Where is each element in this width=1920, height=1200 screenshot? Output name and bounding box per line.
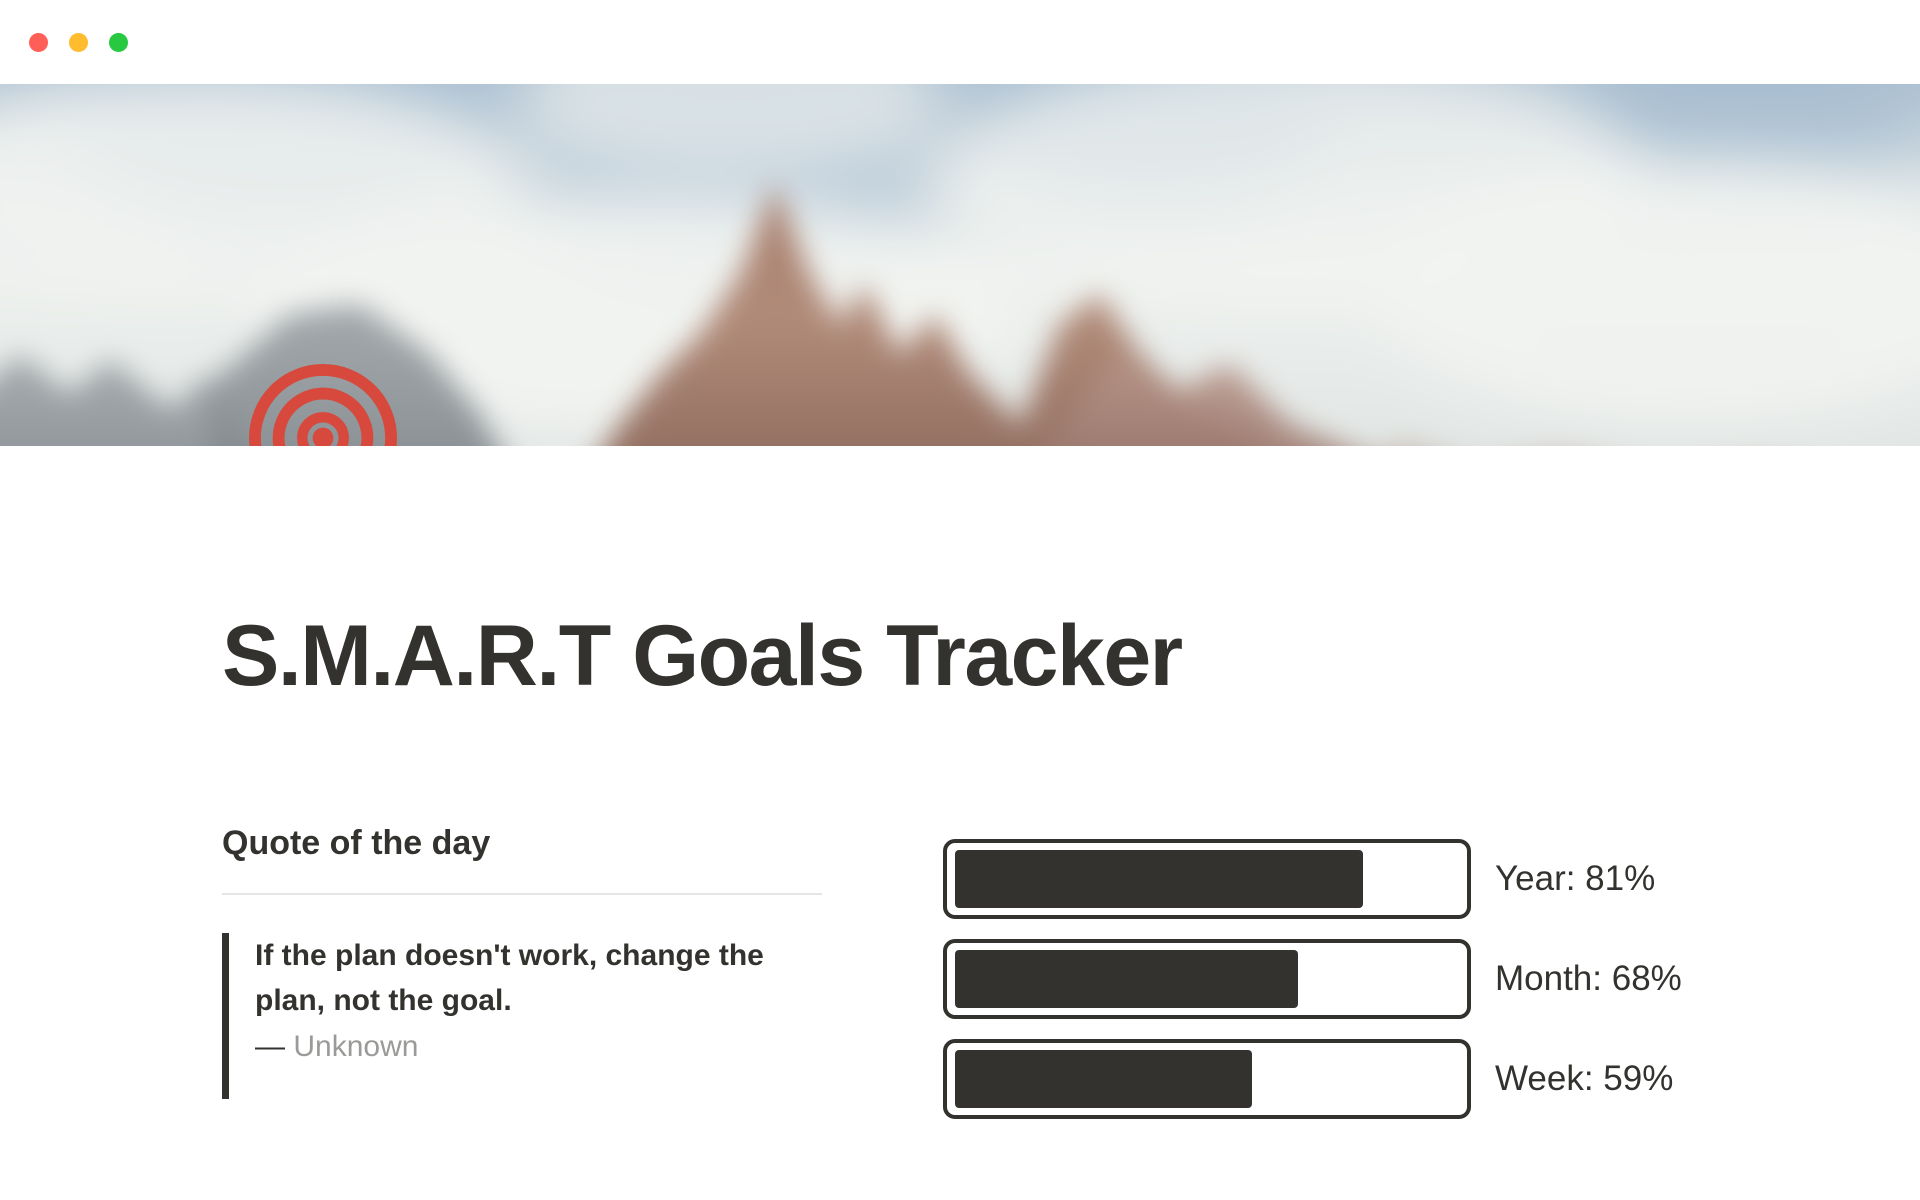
- page-content: S.M.A.R.T Goals Tracker Quote of the day…: [0, 446, 1920, 1200]
- progress-label-month: Month: 68%: [1495, 959, 1682, 999]
- quote-attribution: — Unknown: [255, 1030, 822, 1064]
- minimize-button[interactable]: [69, 33, 88, 52]
- quote-section-heading: Quote of the day: [222, 823, 822, 864]
- quote-dash: —: [255, 1030, 285, 1063]
- progress-row-week: Week: 59%: [943, 1039, 1682, 1119]
- window-titlebar: [0, 0, 1920, 84]
- quote-text: If the plan doesn't work, change the pla…: [255, 933, 775, 1024]
- page-title: S.M.A.R.T Goals Tracker: [222, 613, 1182, 699]
- progress-fill-year: [955, 850, 1363, 908]
- progress-track-month[interactable]: [943, 939, 1471, 1019]
- close-button[interactable]: [29, 33, 48, 52]
- traffic-light-controls: [29, 33, 128, 52]
- progress-track-week[interactable]: [943, 1039, 1471, 1119]
- quote-accent-bar: [222, 933, 229, 1099]
- app-window: S.M.A.R.T Goals Tracker Quote of the day…: [0, 0, 1920, 1200]
- progress-label-week: Week: 59%: [1495, 1059, 1673, 1099]
- maximize-button[interactable]: [109, 33, 128, 52]
- progress-bars-group: Year: 81% Month: 68% Week: 59%: [943, 839, 1682, 1139]
- progress-fill-month: [955, 950, 1298, 1008]
- quote-of-the-day-section: Quote of the day If the plan doesn't wor…: [222, 823, 822, 1064]
- quote-blockquote: If the plan doesn't work, change the pla…: [222, 933, 822, 1064]
- progress-fill-week: [955, 1050, 1252, 1108]
- progress-track-year[interactable]: [943, 839, 1471, 919]
- progress-row-year: Year: 81%: [943, 839, 1682, 919]
- progress-row-month: Month: 68%: [943, 939, 1682, 1019]
- progress-label-year: Year: 81%: [1495, 859, 1655, 899]
- section-divider: [222, 893, 822, 895]
- quote-author-name: Unknown: [293, 1030, 418, 1063]
